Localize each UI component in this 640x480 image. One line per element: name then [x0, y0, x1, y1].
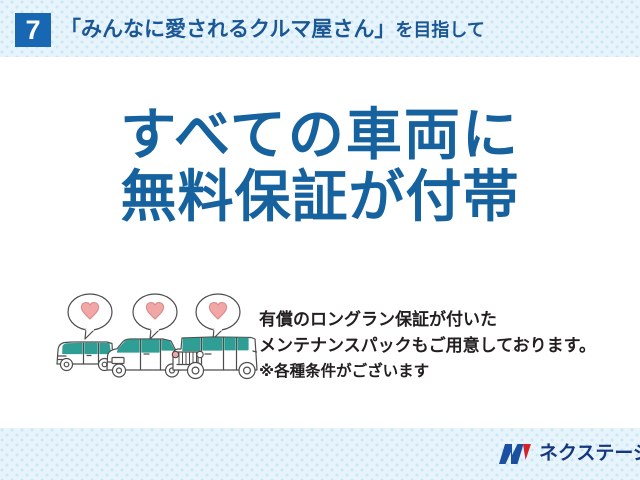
car-minivan [107, 339, 182, 377]
header-title-main: 「みんなに愛されるクルマ屋さん」 [60, 18, 395, 41]
logo-wordmark: ネクステージ [539, 442, 640, 466]
heart-speech-bubble-3 [196, 294, 240, 339]
car-suv [172, 337, 257, 379]
description-line-2: メンテナンスパックもご用意しております。 [259, 333, 596, 359]
headline-line-2: 無料保証が付帯 [0, 166, 640, 228]
header-title: 「みんなに愛されるクルマ屋さん」を目指して [60, 13, 485, 47]
description-text: 有償のロングラン保証が付いた メンテナンスパックもご用意しております。 ※各種条… [259, 307, 596, 385]
headline-line-1: すべての車両に [0, 104, 640, 166]
promo-banner: 7 「みんなに愛されるクルマ屋さん」を目指して すべての車両に 無料保証が付帯 [0, 0, 640, 480]
heart-speech-bubble-1 [68, 294, 112, 339]
nexstage-logo: ネクステージ [498, 441, 640, 467]
description-note: ※各種条件がございます [259, 359, 596, 385]
heart-speech-bubble-2 [133, 294, 177, 339]
logo-n-mark-icon [498, 442, 532, 466]
section-number-badge: 7 [15, 13, 51, 47]
cars-illustration [55, 292, 260, 402]
description-line-1: 有償のロングラン保証が付いた [259, 307, 596, 333]
header-title-suffix: を目指して [395, 20, 484, 40]
headline: すべての車両に 無料保証が付帯 [0, 104, 640, 228]
car-kei-wagon [57, 342, 113, 371]
